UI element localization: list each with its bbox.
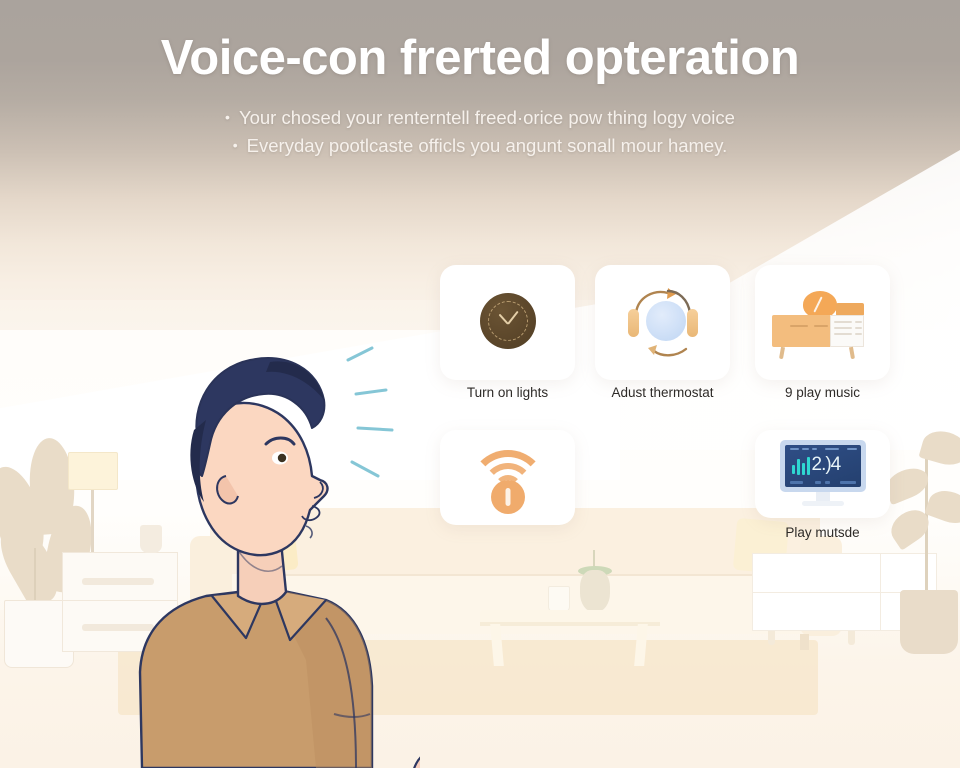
bullet-marker-icon: •: [225, 107, 230, 128]
monitor-display-value: 2.)4: [812, 454, 841, 476]
command-card-adjust-thermostat[interactable]: [595, 265, 730, 380]
vase-icon: [580, 570, 610, 612]
bullet-text: Everyday pootlcaste officls you angunt s…: [247, 135, 728, 156]
wifi-signal-icon: [466, 442, 550, 514]
list-item: •Everyday pootlcaste officls you angunt …: [0, 132, 960, 160]
illustration-scene: Voice-con frerted opteration •Your chose…: [0, 0, 960, 768]
clock-icon: [480, 293, 536, 349]
command-card-label: 9 play music: [755, 385, 890, 400]
monitor-icon: 2.)4: [780, 440, 866, 510]
command-card-voice-signal[interactable]: [440, 430, 575, 525]
headline-block: Voice-con frerted opteration •Your chose…: [0, 32, 960, 160]
bullet-marker-icon: •: [233, 135, 238, 156]
list-item: •Your chosed your renterntell freed·oric…: [0, 104, 960, 132]
command-card-label: Turn on lights: [440, 385, 575, 400]
command-card-play-mutsde[interactable]: 2.)4: [755, 430, 890, 518]
person-speaking-illustration: [120, 300, 420, 768]
command-card-label: Adust thermostat: [590, 385, 735, 400]
command-card-label: Play mutsde: [755, 525, 890, 540]
command-card-turn-on-lights[interactable]: [440, 265, 575, 380]
bullet-list: •Your chosed your renterntell freed·oric…: [0, 104, 960, 160]
sideboard-speaker-icon: [770, 287, 875, 359]
command-card-play-music[interactable]: [755, 265, 890, 380]
thermostat-dial-icon: [624, 287, 702, 359]
bullet-text: Your chosed your renterntell freed·orice…: [239, 107, 735, 128]
page-title: Voice-con frerted opteration: [0, 32, 960, 86]
